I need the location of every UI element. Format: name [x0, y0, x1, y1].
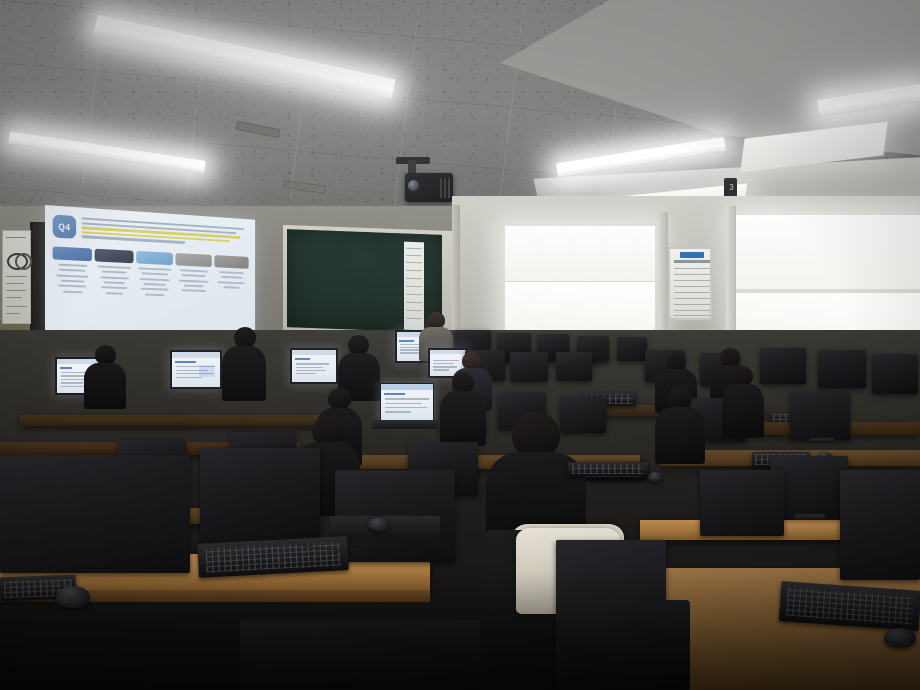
- monitor-row2-h[interactable]: [872, 354, 918, 394]
- notice-header-band: [680, 252, 704, 258]
- person-student-2: [222, 327, 266, 399]
- monitor-row2-g[interactable]: [818, 350, 866, 388]
- framed-notice: [668, 247, 712, 320]
- slide-column: [95, 249, 133, 299]
- slide-column: [214, 255, 249, 302]
- slide-column: [136, 251, 173, 300]
- person-student-1: [84, 345, 126, 407]
- poster-circle-icon-2: [15, 253, 32, 270]
- slide-column-header: [214, 255, 249, 269]
- wall-poster-left: [2, 230, 31, 324]
- mouse-foreground-far-left[interactable]: [56, 586, 90, 608]
- slide-column-header: [136, 251, 173, 265]
- slide-badge: Q4: [53, 215, 77, 239]
- slide-column: [176, 253, 212, 301]
- window-mullion-horizontal: [735, 289, 920, 293]
- monitor-row2-f[interactable]: [760, 348, 806, 384]
- person-student-9: [655, 386, 705, 462]
- slide-columns: [53, 246, 249, 302]
- mouse-foreground-right[interactable]: [884, 628, 916, 648]
- monitor-row4-e[interactable]: [700, 470, 784, 536]
- monitor-stand-row3-e: [810, 438, 834, 443]
- chair-foreground-center: [560, 600, 690, 690]
- laptop-base-center[interactable]: [372, 420, 438, 429]
- monitor-row1-e[interactable]: [617, 337, 647, 361]
- slide-paragraph: [82, 216, 249, 249]
- window-blind-center[interactable]: [505, 226, 655, 282]
- monitor-row2-lit-center[interactable]: [170, 350, 222, 389]
- slide-column-header: [95, 249, 133, 264]
- desk-row2-left: [20, 415, 340, 426]
- monitor-row2-c[interactable]: [556, 352, 592, 381]
- window-blind-right[interactable]: [735, 215, 920, 292]
- notice-title-line: [674, 260, 710, 263]
- slide-column: [53, 246, 93, 297]
- projector-vent: [440, 178, 451, 198]
- monitor-row2-lit-right[interactable]: [290, 348, 338, 384]
- mouse-row3-center[interactable]: [648, 472, 663, 482]
- wall-sensor-number: 3: [726, 184, 737, 192]
- classroom-photo: 3 Q4: [0, 0, 920, 690]
- chair-foreground-left: [240, 620, 480, 690]
- monitor-row3-e[interactable]: [790, 392, 850, 440]
- monitor-stand-row4-d: [795, 514, 825, 520]
- monitor-foreground-right[interactable]: [840, 470, 920, 580]
- monitor-row2-b[interactable]: [510, 352, 548, 382]
- projector-lens-icon: [408, 180, 419, 191]
- slide-column-header: [176, 253, 212, 267]
- slide-column-header: [53, 246, 93, 261]
- person-student-10: [722, 366, 764, 436]
- laptop-screen-center[interactable]: [380, 383, 434, 421]
